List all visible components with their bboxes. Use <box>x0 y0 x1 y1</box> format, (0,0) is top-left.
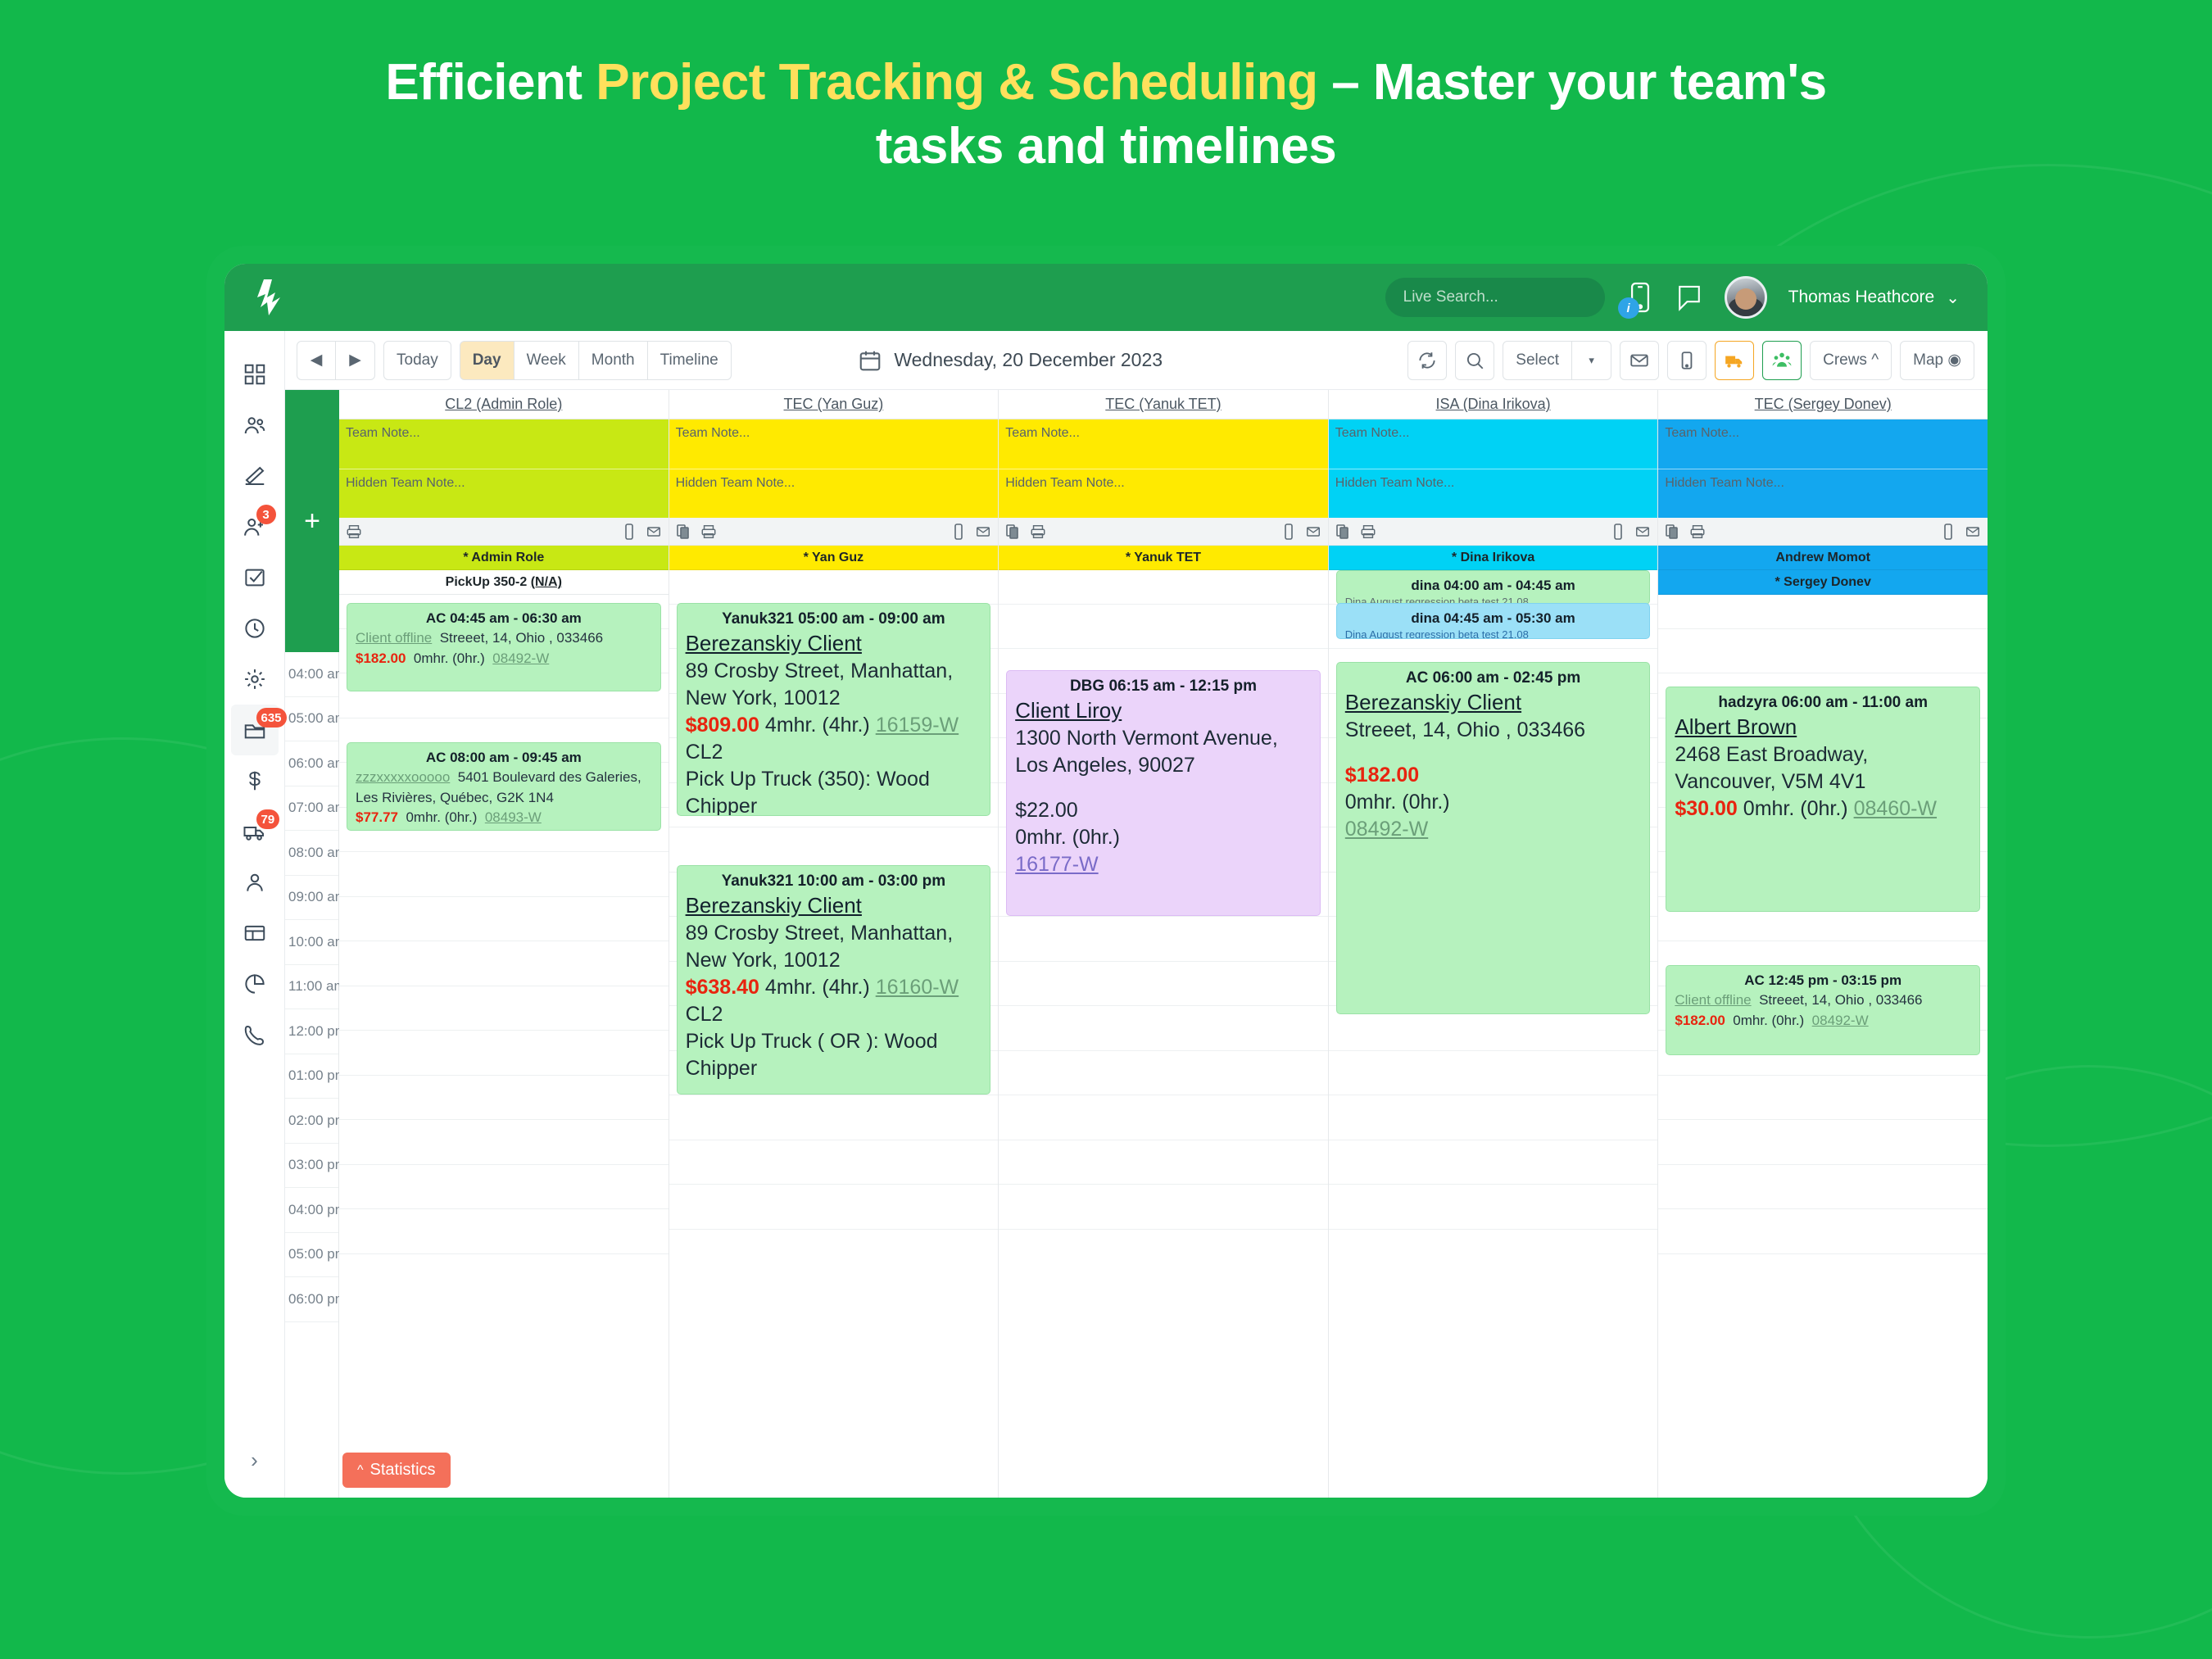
calendar-event[interactable]: AC 04:45 am - 06:30 amClient offline Str… <box>347 603 661 691</box>
crew-name-bar[interactable]: * Sergey Donev <box>1658 570 1988 595</box>
search-icon <box>1464 350 1485 371</box>
hour-gridline <box>339 1119 669 1120</box>
event-note[interactable]: Dina August regression beta test 21.08 <box>1345 628 1642 639</box>
hour-gridline <box>1329 1140 1658 1140</box>
vehicle-bar[interactable]: PickUp 350-2 (N/A) <box>339 570 669 595</box>
hidden-team-note-field[interactable]: Hidden Team Note... <box>669 469 999 518</box>
event-extra: CL2 <box>686 1001 982 1028</box>
sidebar-badge-projects: 635 <box>256 708 287 728</box>
event-address: 89 Crosby Street, Manhattan, <box>686 658 982 685</box>
hidden-team-note-field[interactable]: Hidden Team Note... <box>339 469 669 518</box>
event-hours: 0mhr. (0hr.) <box>1733 1013 1804 1028</box>
hour-gridline <box>339 1030 669 1031</box>
sidebar: 3 635 79 <box>224 331 285 1498</box>
event-time: hadzyra 06:00 am - 11:00 am <box>1675 694 1971 712</box>
crew-column-header[interactable]: ISA (Dina Irikova) <box>1329 390 1658 419</box>
event-address: 89 Crosby Street, Manhattan, <box>686 920 982 947</box>
event-client[interactable]: Client offline <box>356 630 432 646</box>
crew-name-bar[interactable]: Andrew Momot <box>1658 546 1988 570</box>
add-event-button[interactable]: + <box>285 390 339 652</box>
sidebar-item-users[interactable] <box>231 400 279 451</box>
prev-day-button[interactable]: ◀ <box>297 341 336 380</box>
sidebar-item-projects[interactable]: 635 <box>231 705 279 755</box>
crews-caret-icon: ^ <box>1871 351 1879 369</box>
event-time: AC 06:00 am - 02:45 pm <box>1345 669 1642 687</box>
vehicle-label: PickUp 350-2 <box>446 575 528 590</box>
sidebar-badge-fleet: 79 <box>256 809 280 829</box>
event-client[interactable]: zzzxxxxxooooo <box>356 769 450 785</box>
time-label: 11:00 am <box>285 965 338 1010</box>
print-icon[interactable] <box>1030 523 1046 541</box>
event-amount: $809.00 <box>686 714 759 737</box>
hour-gridline <box>999 604 1328 605</box>
print-icon[interactable] <box>346 523 362 541</box>
search-input[interactable] <box>1385 278 1605 317</box>
event-amount: $182.00 <box>1345 762 1642 789</box>
hidden-team-note-field[interactable]: Hidden Team Note... <box>999 469 1328 518</box>
event-workorder[interactable]: 08492-W <box>492 650 549 666</box>
hour-gridline <box>999 1050 1328 1051</box>
crew-header-label: TEC (Sergey Donev) <box>1755 396 1892 413</box>
select-caret-icon[interactable]: ▾ <box>1572 341 1611 380</box>
envelope-icon[interactable] <box>1634 523 1651 541</box>
hour-gridline <box>339 896 669 897</box>
sidebar-item-tasks[interactable] <box>231 552 279 603</box>
time-label: 03:00 pm <box>285 1144 338 1189</box>
truck-icon <box>1724 350 1745 371</box>
crew-column: ISA (Dina Irikova)Team Note...Hidden Tea… <box>1329 390 1659 1498</box>
sidebar-item-dashboard[interactable] <box>231 349 279 400</box>
hour-gridline <box>339 941 669 941</box>
hour-gridline <box>999 961 1328 962</box>
calendar-grid: + 04:00 am05:00 am06:00 am07:00 am08:00 … <box>285 390 1988 1498</box>
crews-label: Crews <box>1823 351 1867 369</box>
event-meta: $638.40 4mhr. (4hr.) 16160-W <box>686 974 982 1001</box>
app-logo-icon[interactable] <box>247 276 290 319</box>
mobile-icon[interactable] <box>950 523 967 541</box>
event-hours: 4mhr. (4hr.) <box>765 714 870 737</box>
event-hours: 4mhr. (4hr.) <box>765 976 870 999</box>
event-extra: Pick Up Truck (350): Wood Chipper <box>686 766 982 816</box>
hour-gridline <box>1658 941 1988 941</box>
time-label: 06:00 am <box>285 741 338 786</box>
time-label: 04:00 pm <box>285 1188 338 1233</box>
crew-name-bar[interactable]: * Yan Guz <box>669 546 999 570</box>
map-button[interactable]: Map ◉ <box>1900 341 1974 380</box>
fleet-filter-button[interactable] <box>1715 341 1754 380</box>
crew-action-row <box>999 518 1328 546</box>
hour-gridline <box>339 1208 669 1209</box>
hour-gridline <box>999 1184 1328 1185</box>
sidebar-item-billing[interactable] <box>231 755 279 806</box>
hour-gridline <box>1658 628 1988 629</box>
crew-people-icon <box>1771 350 1793 371</box>
print-icon[interactable] <box>1360 523 1376 541</box>
crew-column-body[interactable]: AC 04:45 am - 06:30 amClient offline Str… <box>339 595 669 1498</box>
event-meta: $77.77 0mhr. (0hr.) 08493-W <box>356 808 652 828</box>
crew-column-header[interactable]: TEC (Sergey Donev) <box>1658 390 1988 419</box>
hour-gridline <box>1329 1050 1658 1051</box>
event-time: Yanuk321 10:00 am - 03:00 pm <box>686 873 982 891</box>
event-amount: $22.00 <box>1015 797 1312 824</box>
sidebar-item-add-user[interactable]: 3 <box>231 501 279 552</box>
event-amount: $77.77 <box>356 809 398 825</box>
event-client[interactable]: Albert Brown <box>1675 714 1971 741</box>
headline-part-2: – Master your team's <box>1318 54 1827 111</box>
chevron-down-icon[interactable]: ⌄ <box>1946 288 1960 308</box>
event-meta: $182.00 0mhr. (0hr.) 08492-W <box>356 649 652 669</box>
hour-gridline <box>669 1095 999 1095</box>
time-label: 06:00 pm <box>285 1277 338 1322</box>
hour-gridline <box>1658 1119 1988 1120</box>
refresh-icon <box>1416 350 1438 371</box>
time-label: 09:00 am <box>285 876 338 921</box>
event-amount: $638.40 <box>686 976 759 999</box>
hour-gridline <box>339 1075 669 1076</box>
print-icon[interactable] <box>700 523 717 541</box>
headline-part-1: Efficient <box>385 54 596 111</box>
event-hours: 0mhr. (0hr.) <box>1345 789 1642 816</box>
mobile-icon[interactable] <box>1281 523 1297 541</box>
select-label[interactable]: Select <box>1503 341 1572 380</box>
crew-action-row <box>1329 518 1658 546</box>
event-address: Vancouver, V5M 4V1 <box>1675 768 1971 796</box>
hour-gridline <box>339 986 669 986</box>
hour-gridline <box>999 1005 1328 1006</box>
hour-gridline <box>999 648 1328 649</box>
hour-gridline <box>999 1229 1328 1230</box>
event-client[interactable]: Berezanskiy Client <box>1345 689 1642 717</box>
event-hours: 0mhr. (0hr.) <box>406 809 477 825</box>
mobile-icon[interactable] <box>1940 523 1956 541</box>
event-hours: 0mhr. (0hr.) <box>1015 824 1312 851</box>
crew-column-header[interactable]: TEC (Yanuk TET) <box>999 390 1328 419</box>
crew-column-body[interactable]: Yanuk321 05:00 am - 09:00 amBerezanskiy … <box>669 570 999 1498</box>
crew-name-bar[interactable]: * Admin Role <box>339 546 669 570</box>
hour-gridline <box>1329 648 1658 649</box>
copy-icon[interactable] <box>1005 523 1022 541</box>
event-workorder[interactable]: 08492-W <box>1812 1013 1869 1028</box>
hour-gridline <box>999 1140 1328 1140</box>
sidebar-item-reports-table[interactable] <box>231 908 279 959</box>
crew-column-header[interactable]: CL2 (Admin Role) <box>339 390 669 419</box>
event-extra: CL2 <box>686 739 982 766</box>
crew-column: TEC (Sergey Donev)Team Note...Hidden Tea… <box>1658 390 1988 1498</box>
envelope-icon[interactable] <box>646 523 662 541</box>
crew-action-row <box>339 518 669 546</box>
event-meta: $30.00 0mhr. (0hr.) 08460-W <box>1675 796 1971 823</box>
calendar-event[interactable]: DBG 06:15 am - 12:15 pmClient Liroy1300 … <box>1006 670 1321 916</box>
notification-badge: i <box>1618 297 1639 319</box>
event-hours: 0mhr. (0hr.) <box>414 650 485 666</box>
hidden-team-note-field[interactable]: Hidden Team Note... <box>1658 469 1988 518</box>
event-time: dina 04:45 am - 05:30 am <box>1345 610 1642 627</box>
hour-gridline <box>669 827 999 827</box>
event-time: Yanuk321 05:00 am - 09:00 am <box>686 610 982 628</box>
team-note-field[interactable]: Team Note... <box>669 419 999 469</box>
time-gutter: + 04:00 am05:00 am06:00 am07:00 am08:00 … <box>285 390 339 1498</box>
hour-gridline <box>669 1184 999 1185</box>
crew-column: TEC (Yan Guz)Team Note...Hidden Team Not… <box>669 390 999 1498</box>
sidebar-expand-button[interactable]: › <box>237 1442 273 1478</box>
hour-gridline <box>669 1140 999 1140</box>
sidebar-item-analytics[interactable] <box>231 959 279 1009</box>
vehicle-link[interactable]: (N/A) <box>531 575 562 590</box>
hour-gridline <box>339 851 669 852</box>
crew-name-bar[interactable]: * Dina Irikova <box>1329 546 1658 570</box>
calendar-icon <box>858 348 882 373</box>
hour-gridline <box>339 1253 669 1254</box>
search-button[interactable] <box>1455 341 1494 380</box>
event-address: New York, 10012 <box>686 685 982 712</box>
crew-header-label: TEC (Yan Guz) <box>784 396 884 413</box>
hour-gridline <box>669 1229 999 1230</box>
sidebar-item-time[interactable] <box>231 603 279 654</box>
time-label: 07:00 am <box>285 786 338 832</box>
crews-dropdown-button[interactable]: Crews ^ <box>1810 341 1892 380</box>
hour-gridline <box>999 916 1328 917</box>
calendar-event[interactable]: Yanuk321 05:00 am - 09:00 amBerezanskiy … <box>677 603 991 816</box>
tab-timeline[interactable]: Timeline <box>648 341 732 380</box>
crew-columns: CL2 (Admin Role)Team Note...Hidden Team … <box>339 390 1988 1498</box>
map-pin-icon: ◉ <box>1947 351 1961 369</box>
sidebar-item-fleet[interactable]: 79 <box>231 806 279 857</box>
hour-gridline <box>999 1095 1328 1095</box>
chat-bubble-icon[interactable] <box>1675 281 1703 314</box>
envelope-icon[interactable] <box>1965 523 1981 541</box>
hour-gridline <box>1658 1208 1988 1209</box>
mobile-icon <box>1676 350 1698 371</box>
event-workorder[interactable]: 08493-W <box>485 809 542 825</box>
crew-column-body[interactable]: dina 04:00 am - 04:45 amDina August regr… <box>1329 570 1658 1498</box>
event-address: 2468 East Broadway, <box>1675 741 1971 768</box>
app-header: i Thomas Heathcore ⌄ <box>224 264 1988 331</box>
time-label: 02:00 pm <box>285 1099 338 1144</box>
crew-column-body[interactable]: DBG 06:15 am - 12:15 pmClient Liroy1300 … <box>999 570 1328 1498</box>
event-details: Client offline Streeet, 14, Ohio , 03346… <box>1675 990 1971 1011</box>
statistics-button[interactable]: ^ Statistics <box>342 1453 451 1488</box>
refresh-button[interactable] <box>1407 341 1447 380</box>
event-meta: $809.00 4mhr. (4hr.) 16159-W <box>686 712 982 739</box>
crew-header-label: CL2 (Admin Role) <box>445 396 562 413</box>
crew-header-label: ISA (Dina Irikova) <box>1436 396 1551 413</box>
team-note-field[interactable]: Team Note... <box>339 419 669 469</box>
event-workorder[interactable]: 08492-W <box>1345 816 1642 843</box>
event-amount: $182.00 <box>1675 1013 1725 1028</box>
event-workorder[interactable]: 16160-W <box>876 976 959 999</box>
tab-month[interactable]: Month <box>579 341 648 380</box>
hour-gridline <box>1658 1075 1988 1076</box>
time-axis: 04:00 am05:00 am06:00 am07:00 am08:00 am… <box>285 652 339 1498</box>
hour-gridline <box>1329 1095 1658 1095</box>
time-label: 08:00 am <box>285 831 338 876</box>
calendar-event[interactable]: AC 06:00 am - 02:45 pmBerezanskiy Client… <box>1336 662 1651 1014</box>
event-client[interactable]: Berezanskiy Client <box>686 630 982 658</box>
crew-header-label: TEC (Yanuk TET) <box>1105 396 1221 413</box>
event-hours: 0mhr. (0hr.) <box>1743 797 1848 820</box>
hour-gridline <box>1329 1229 1658 1230</box>
event-extra: Pick Up Truck ( OR ): Wood Chipper <box>686 1028 982 1082</box>
select-dropdown: Select ▾ <box>1503 341 1611 380</box>
crew-column-header[interactable]: TEC (Yan Guz) <box>669 390 999 419</box>
mobile-icon[interactable]: i <box>1626 281 1654 314</box>
sidebar-item-profile[interactable] <box>231 857 279 908</box>
time-label: 05:00 pm <box>285 1233 338 1278</box>
sidebar-badge-add-user: 3 <box>256 505 276 524</box>
calendar-event[interactable]: Yanuk321 10:00 am - 03:00 pmBerezanskiy … <box>677 865 991 1095</box>
time-label: 01:00 pm <box>285 1054 338 1099</box>
time-label: 05:00 am <box>285 697 338 742</box>
hour-gridline <box>1658 1253 1988 1254</box>
tab-week[interactable]: Week <box>514 341 579 380</box>
crew-column: TEC (Yanuk TET)Team Note...Hidden Team N… <box>999 390 1329 1498</box>
date-nav-group: ◀ ▶ <box>297 341 375 380</box>
hour-gridline <box>1329 1184 1658 1185</box>
event-address: Streeet, 14, Ohio , 033466 <box>440 630 603 646</box>
hour-gridline <box>339 718 669 718</box>
event-workorder[interactable]: 16177-W <box>1015 851 1312 878</box>
hour-gridline <box>1658 1164 1988 1165</box>
calendar-event[interactable]: hadzyra 06:00 am - 11:00 amAlbert Brown2… <box>1666 687 1980 912</box>
copy-icon[interactable] <box>1665 523 1681 541</box>
event-client[interactable]: Berezanskiy Client <box>686 892 982 920</box>
envelope-icon <box>1629 350 1650 371</box>
copy-icon[interactable] <box>1335 523 1352 541</box>
crew-column-body[interactable]: hadzyra 06:00 am - 11:00 amAlbert Brown2… <box>1658 595 1988 1498</box>
app-window: i Thomas Heathcore ⌄ 3 <box>206 246 2006 1516</box>
map-label: Map <box>1913 351 1943 369</box>
calendar-event[interactable]: AC 12:45 pm - 03:15 pmClient offline Str… <box>1666 965 1980 1055</box>
event-time: AC 04:45 am - 06:30 am <box>356 610 652 627</box>
calendar-toolbar: ◀ ▶ Today Day Week Month Timeline Wednes… <box>285 331 1988 390</box>
sidebar-item-settings[interactable] <box>231 654 279 705</box>
hour-gridline <box>339 1164 669 1165</box>
sms-button[interactable] <box>1667 341 1707 380</box>
today-button[interactable]: Today <box>383 341 451 380</box>
event-client[interactable]: Client Liroy <box>1015 697 1312 725</box>
event-address: Los Angeles, 90027 <box>1015 752 1312 779</box>
event-workorder[interactable]: 08460-W <box>1854 797 1937 820</box>
event-amount: $30.00 <box>1675 797 1737 820</box>
date-label: Wednesday, 20 December 2023 <box>894 349 1163 371</box>
crew-name-bar[interactable]: * Yanuk TET <box>999 546 1328 570</box>
calendar-event[interactable]: dina 04:00 am - 04:45 amDina August regr… <box>1336 570 1651 605</box>
crew-column: CL2 (Admin Role)Team Note...Hidden Team … <box>339 390 669 1498</box>
mobile-icon[interactable] <box>1610 523 1626 541</box>
calendar-event[interactable]: AC 08:00 am - 09:45 amzzzxxxxxooooo 5401… <box>347 742 661 831</box>
crew-action-row <box>669 518 999 546</box>
crew-action-row <box>1658 518 1988 546</box>
time-label: 10:00 am <box>285 920 338 965</box>
hidden-team-note-field[interactable]: Hidden Team Note... <box>1329 469 1658 518</box>
event-time: AC 12:45 pm - 03:15 pm <box>1675 972 1971 989</box>
crew-filter-button[interactable] <box>1762 341 1802 380</box>
envelope-icon[interactable] <box>975 523 991 541</box>
team-note-field[interactable]: Team Note... <box>1329 419 1658 469</box>
time-label: 04:00 am <box>285 652 338 697</box>
print-icon[interactable] <box>1689 523 1706 541</box>
mobile-icon[interactable] <box>621 523 637 541</box>
statistics-caret-icon: ^ <box>357 1463 364 1478</box>
headline-highlight: Project Tracking & Scheduling <box>596 54 1317 111</box>
tab-day[interactable]: Day <box>460 341 514 380</box>
event-amount: $182.00 <box>356 650 406 666</box>
event-address: Streeet, 14, Ohio , 033466 <box>1345 717 1642 744</box>
event-time: DBG 06:15 am - 12:15 pm <box>1015 678 1312 696</box>
view-switcher: Day Week Month Timeline <box>460 341 732 380</box>
statistics-label: Statistics <box>370 1461 436 1480</box>
username-label: Thomas Heathcore <box>1788 288 1935 307</box>
team-note-field[interactable]: Team Note... <box>1658 419 1988 469</box>
event-address: New York, 10012 <box>686 947 982 974</box>
copy-icon[interactable] <box>676 523 692 541</box>
event-meta: $182.00 0mhr. (0hr.) 08492-W <box>1675 1011 1971 1031</box>
event-time: dina 04:00 am - 04:45 am <box>1345 578 1642 594</box>
event-time: AC 08:00 am - 09:45 am <box>356 750 652 766</box>
page-title: Efficient Project Tracking & Scheduling … <box>0 0 2212 179</box>
sidebar-item-calls[interactable] <box>231 1009 279 1060</box>
sidebar-item-edit[interactable] <box>231 451 279 501</box>
envelope-icon[interactable] <box>1305 523 1321 541</box>
event-address: Streeet, 14, Ohio , 033466 <box>1759 992 1922 1008</box>
event-workorder[interactable]: 16159-W <box>876 714 959 737</box>
event-details: Client offline Streeet, 14, Ohio , 03346… <box>356 628 652 649</box>
headline-line-2: tasks and timelines <box>0 115 2212 179</box>
time-label: 12:00 pm <box>285 1009 338 1054</box>
event-address: 1300 North Vermont Avenue, <box>1015 725 1312 752</box>
next-day-button[interactable]: ▶ <box>336 341 375 380</box>
avatar[interactable] <box>1725 276 1767 319</box>
event-client[interactable]: Client offline <box>1675 992 1751 1008</box>
email-button[interactable] <box>1620 341 1659 380</box>
event-details: zzzxxxxxooooo 5401 Boulevard des Galerie… <box>356 768 652 808</box>
team-note-field[interactable]: Team Note... <box>999 419 1328 469</box>
current-date-display: Wednesday, 20 December 2023 <box>858 348 1163 373</box>
calendar-event[interactable]: dina 04:45 am - 05:30 amDina August regr… <box>1336 603 1651 639</box>
hour-gridline <box>1658 673 1988 673</box>
